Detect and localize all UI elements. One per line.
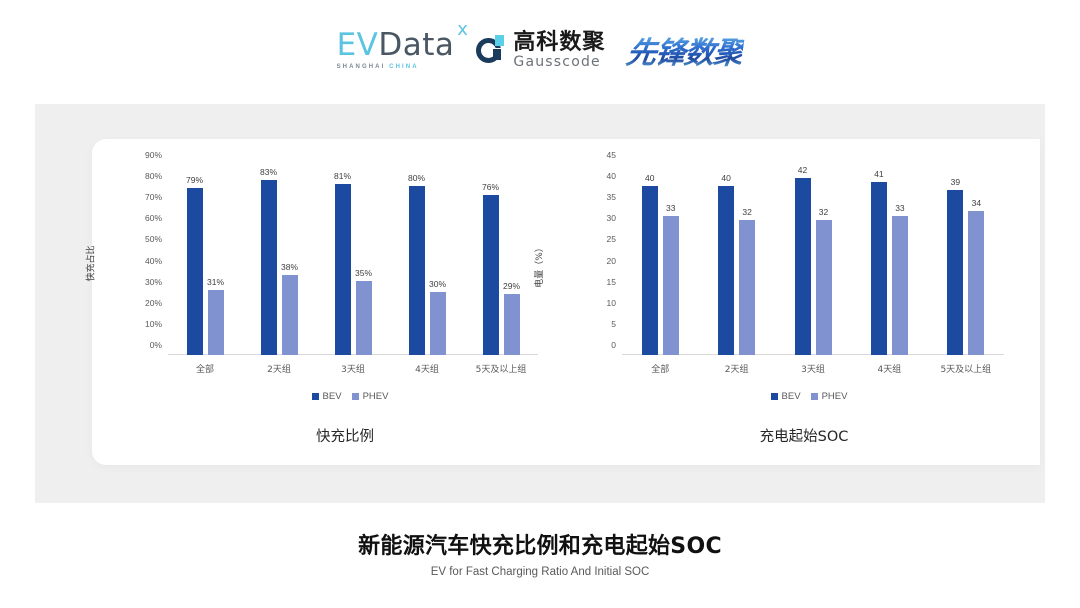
x-tick-label: 2天组 xyxy=(267,362,291,375)
y-tick-label: 60% xyxy=(145,213,162,223)
bar-group: 81%35%3天组 xyxy=(316,165,390,355)
legend-label: PHEV xyxy=(822,391,848,402)
bar-value-label: 76% xyxy=(482,182,499,192)
evdata-tagline-city: SHANGHAI xyxy=(337,64,390,70)
chart-caption-left: 快充比例 xyxy=(110,425,560,446)
bar-phev: 31% xyxy=(208,290,224,355)
bar-value-label: 41 xyxy=(874,169,883,179)
logo-bar: EVData x SHANGHAI CHINA 高科数聚 Gausscode 先… xyxy=(0,24,1080,76)
evdata-superscript-x-icon: x xyxy=(457,21,468,39)
y-tick-label: 15 xyxy=(607,277,616,287)
legend-item-phev[interactable]: PHEV xyxy=(352,391,389,402)
bar-phev: 35% xyxy=(356,281,372,355)
evdata-suffix: Data xyxy=(378,27,454,63)
bar-value-label: 40 xyxy=(721,173,730,183)
gausscode-wordmark: 高科数聚 Gausscode xyxy=(513,32,605,69)
bar-phev: 32 xyxy=(816,220,832,355)
bar-bev: 39 xyxy=(947,190,963,355)
gausscode-logo-icon: 高科数聚 Gausscode xyxy=(476,32,605,69)
bar-bev: 40 xyxy=(642,186,658,355)
bar-value-label: 42 xyxy=(798,165,807,175)
y-tick-label: 0 xyxy=(611,340,616,350)
bar-value-label: 40 xyxy=(645,173,654,183)
x-tick-label: 2天组 xyxy=(725,362,749,375)
page-title: 新能源汽车快充比例和充电起始SOC xyxy=(0,528,1080,560)
bar-phev: 32 xyxy=(739,220,755,355)
bar-value-label: 33 xyxy=(666,203,675,213)
bar-phev: 29% xyxy=(504,294,520,355)
y-tick-label: 10% xyxy=(145,319,162,329)
bar-phev: 30% xyxy=(430,292,446,355)
y-tick-label: 40% xyxy=(145,256,162,266)
y-axis-label-right: 电量（%） xyxy=(532,243,545,288)
legend-swatch-icon xyxy=(312,393,319,400)
gausscode-mark-icon xyxy=(476,35,506,65)
legend-item-phev[interactable]: PHEV xyxy=(811,391,848,402)
plot-area-right: 051015202530354045 4033全部40322天组42323天组4… xyxy=(622,165,1004,355)
y-tick-label: 50% xyxy=(145,234,162,244)
bar-group: 80%30%4天组 xyxy=(390,165,464,355)
xianfeng-logo-icon: 先锋数聚 xyxy=(624,28,746,72)
x-tick-label: 全部 xyxy=(651,362,669,375)
evdata-tagline-country: CHINA xyxy=(389,64,419,70)
bar-bev: 42 xyxy=(795,178,811,355)
x-tick-label: 3天组 xyxy=(801,362,825,375)
bar-value-label: 35% xyxy=(355,268,372,278)
y-tick-label: 30 xyxy=(607,213,616,223)
footer: 新能源汽车快充比例和充电起始SOC EV for Fast Charging R… xyxy=(0,528,1080,578)
evdata-logo-icon: EVData x SHANGHAI CHINA xyxy=(337,30,455,70)
bar-phev: 34 xyxy=(968,211,984,355)
bar-groups-left: 79%31%全部83%38%2天组81%35%3天组80%30%4天组76%29… xyxy=(168,165,538,355)
x-tick-label: 全部 xyxy=(196,362,214,375)
legend-left: BEVPHEV xyxy=(110,391,560,402)
x-tick-label: 4天组 xyxy=(878,362,902,375)
y-tick-label: 70% xyxy=(145,192,162,202)
bar-group: 4033全部 xyxy=(622,165,698,355)
bar-bev: 83% xyxy=(261,180,277,355)
bar-bev: 80% xyxy=(409,186,425,355)
chart-fast-charging-ratio: 0%10%20%30%40%50%60%70%80%90% 79%31%全部83… xyxy=(110,139,560,465)
evdata-prefix: EV xyxy=(337,27,379,63)
gausscode-name-cn: 高科数聚 xyxy=(513,32,605,54)
y-tick-label: 0% xyxy=(150,340,162,350)
page-subtitle: EV for Fast Charging Ratio And Initial S… xyxy=(0,566,1080,578)
bar-value-label: 33 xyxy=(895,203,904,213)
bar-value-label: 39 xyxy=(951,177,960,187)
y-axis-label-left: 快充占比 xyxy=(84,245,97,281)
bar-value-label: 32 xyxy=(742,207,751,217)
legend-right: BEVPHEV xyxy=(560,391,1022,402)
chart-caption-right: 充电起始SOC xyxy=(560,425,1022,446)
x-tick-label: 5天及以上组 xyxy=(476,362,527,375)
bar-group: 83%38%2天组 xyxy=(242,165,316,355)
y-tick-label: 40 xyxy=(607,171,616,181)
chart-initial-soc: 051015202530354045 4033全部40322天组42323天组4… xyxy=(560,139,1022,465)
plot-area-left: 0%10%20%30%40%50%60%70%80%90% 79%31%全部83… xyxy=(168,165,538,355)
y-tick-label: 20% xyxy=(145,298,162,308)
bar-value-label: 38% xyxy=(281,262,298,272)
y-tick-label: 20 xyxy=(607,256,616,266)
bar-phev: 38% xyxy=(282,275,298,355)
y-tick-label: 80% xyxy=(145,171,162,181)
bar-value-label: 31% xyxy=(207,277,224,287)
legend-item-bev[interactable]: BEV xyxy=(312,391,342,402)
y-tick-label: 30% xyxy=(145,277,162,287)
evdata-wordmark: EVData x xyxy=(337,30,455,61)
bar-value-label: 83% xyxy=(260,167,277,177)
bar-bev: 79% xyxy=(187,188,203,355)
legend-label: BEV xyxy=(323,391,342,402)
bar-bev: 40 xyxy=(718,186,734,355)
x-tick-label: 5天及以上组 xyxy=(940,362,991,375)
legend-label: BEV xyxy=(782,391,801,402)
bar-value-label: 80% xyxy=(408,173,425,183)
bar-groups-right: 4033全部40322天组42323天组41334天组39345天及以上组 xyxy=(622,165,1004,355)
gausscode-name-en: Gausscode xyxy=(513,55,605,69)
y-tick-label: 35 xyxy=(607,192,616,202)
bar-value-label: 29% xyxy=(503,281,520,291)
x-tick-label: 4天组 xyxy=(415,362,439,375)
bar-group: 39345天及以上组 xyxy=(928,165,1004,355)
legend-item-bev[interactable]: BEV xyxy=(771,391,801,402)
y-tick-label: 10 xyxy=(607,298,616,308)
bar-value-label: 79% xyxy=(186,175,203,185)
bar-bev: 76% xyxy=(483,195,499,355)
charts-card: 0%10%20%30%40%50%60%70%80%90% 79%31%全部83… xyxy=(92,139,1040,465)
bar-group: 41334天组 xyxy=(851,165,927,355)
bar-value-label: 81% xyxy=(334,171,351,181)
y-tick-label: 45 xyxy=(607,150,616,160)
legend-label: PHEV xyxy=(363,391,389,402)
bar-phev: 33 xyxy=(892,216,908,355)
y-tick-label: 90% xyxy=(145,150,162,160)
y-tick-label: 25 xyxy=(607,234,616,244)
legend-swatch-icon xyxy=(352,393,359,400)
legend-swatch-icon xyxy=(771,393,778,400)
bar-group: 42323天组 xyxy=(775,165,851,355)
bar-phev: 33 xyxy=(663,216,679,355)
bar-value-label: 30% xyxy=(429,279,446,289)
x-tick-label: 3天组 xyxy=(341,362,365,375)
bar-value-label: 32 xyxy=(819,207,828,217)
bar-group: 76%29%5天及以上组 xyxy=(464,165,538,355)
evdata-tagline: SHANGHAI CHINA xyxy=(337,64,419,70)
bar-bev: 41 xyxy=(871,182,887,355)
bar-group: 79%31%全部 xyxy=(168,165,242,355)
bar-value-label: 34 xyxy=(972,198,981,208)
bar-group: 40322天组 xyxy=(698,165,774,355)
legend-swatch-icon xyxy=(811,393,818,400)
y-tick-label: 5 xyxy=(611,319,616,329)
bar-bev: 81% xyxy=(335,184,351,355)
